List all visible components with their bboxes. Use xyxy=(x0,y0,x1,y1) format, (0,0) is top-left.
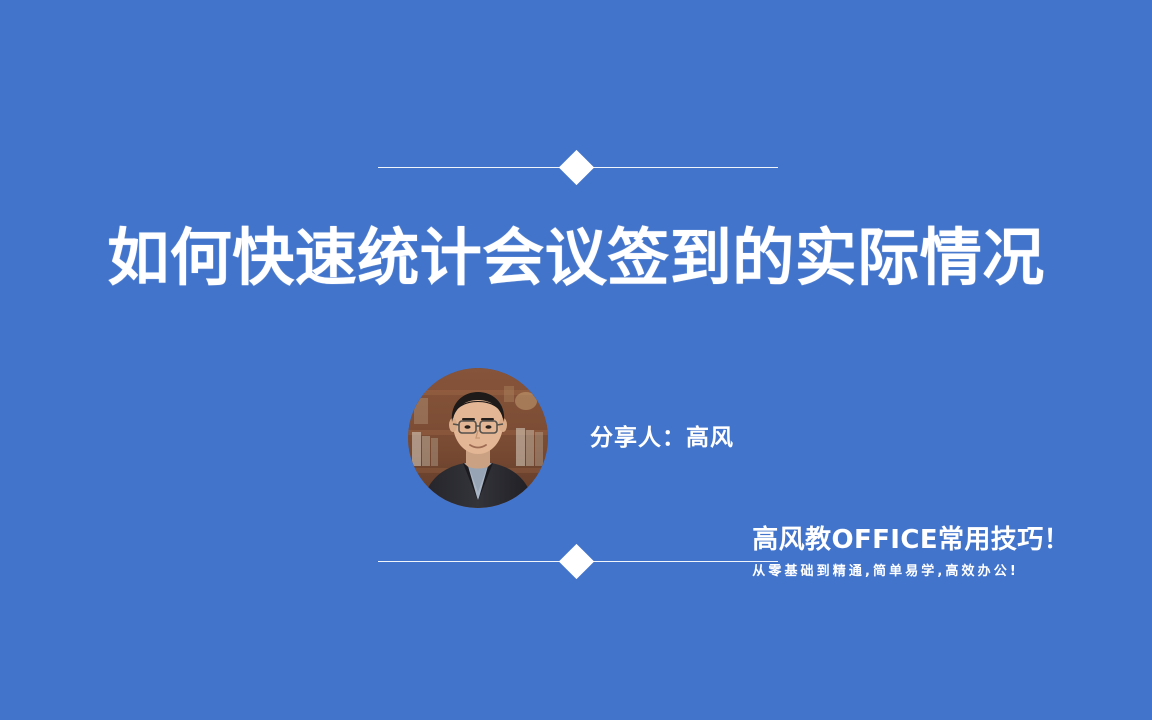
brand-block: 高风教OFFICE常用技巧！ 从零基础到精通,简单易学,高效办公! xyxy=(752,524,1070,579)
diamond-icon xyxy=(559,544,594,579)
presenter-portrait-image xyxy=(408,368,548,508)
page-title: 如何快速统计会议签到的实际情况 xyxy=(0,225,1152,292)
avatar xyxy=(408,368,548,508)
brand-tagline: 从零基础到精通,简单易学,高效办公! xyxy=(752,564,1070,580)
bottom-divider xyxy=(378,542,778,582)
top-divider xyxy=(378,148,778,188)
presenter-label: 分享人：高风 xyxy=(590,418,734,452)
diamond-icon xyxy=(559,150,594,185)
brand-name: 高风教OFFICE常用技巧！ xyxy=(752,524,1070,557)
title-slide: 如何快速统计会议签到的实际情况 xyxy=(0,0,1152,720)
